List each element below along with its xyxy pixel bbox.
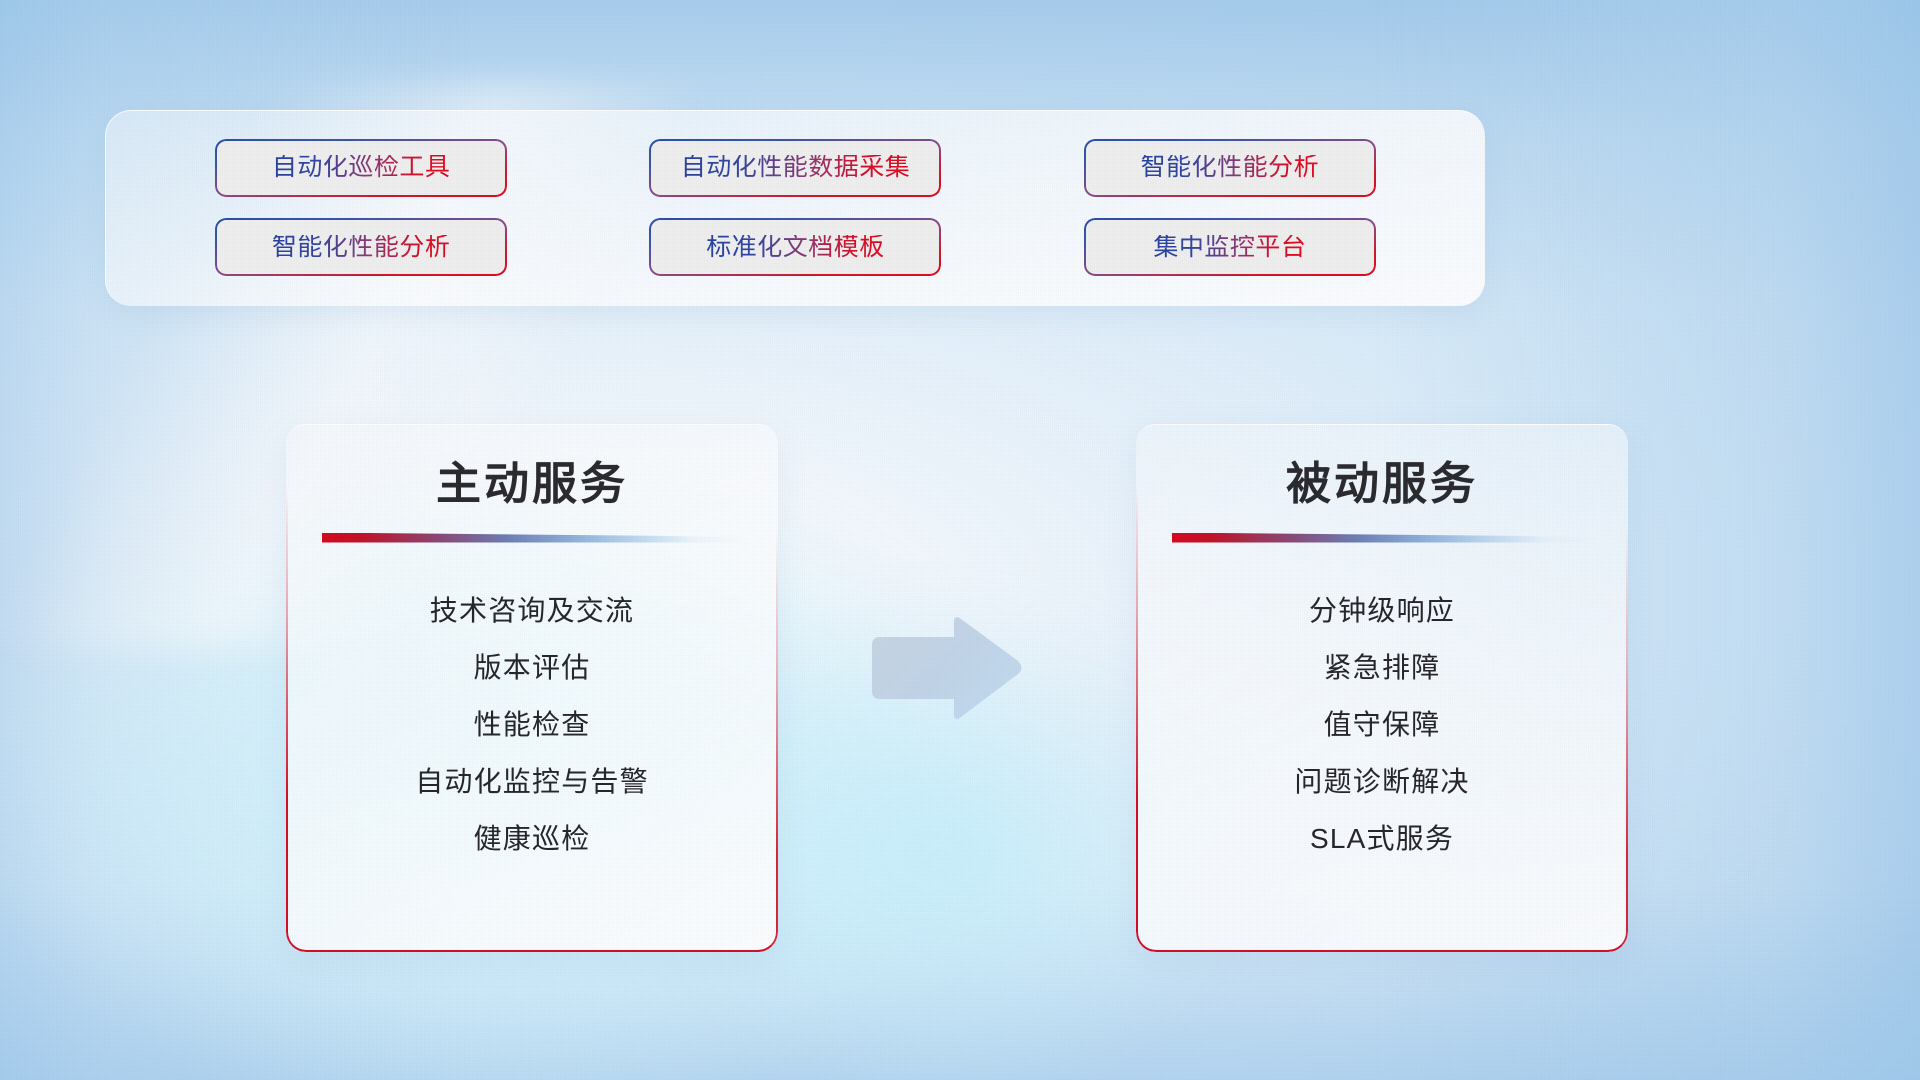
- capability-tag-label: 智能化性能分析: [272, 235, 451, 260]
- panel-item-list: 技术咨询及交流 版本评估 性能检查 自动化监控与告警 健康巡检: [286, 583, 778, 868]
- capability-tag-label: 标准化文档模板: [706, 235, 885, 260]
- capability-tag-label: 自动化性能数据采集: [681, 155, 911, 180]
- list-item: 紧急排障: [1136, 640, 1628, 697]
- capability-tag[interactable]: 自动化性能数据采集: [649, 139, 941, 197]
- panel-title: 被动服务: [1136, 459, 1628, 509]
- panel-item-list: 分钟级响应 紧急排障 值守保障 问题诊断解决 SLA式服务: [1136, 583, 1628, 868]
- capability-tag[interactable]: 自动化巡检工具: [215, 139, 507, 197]
- capability-tags-grid: 自动化巡检工具 自动化性能数据采集 智能化性能分析 智能化性能分析 标准化文档模…: [106, 111, 1485, 306]
- list-item: 问题诊断解决: [1136, 754, 1628, 811]
- list-item: 值守保障: [1136, 697, 1628, 754]
- panel-divider-gradient: [1172, 533, 1592, 543]
- list-item: 版本评估: [286, 640, 778, 697]
- panel-divider-gradient: [322, 533, 742, 543]
- list-item: 健康巡检: [286, 811, 778, 868]
- capability-tag-label: 自动化巡检工具: [272, 155, 451, 180]
- list-item: SLA式服务: [1136, 811, 1628, 868]
- capability-tag[interactable]: 智能化性能分析: [215, 218, 507, 276]
- capability-tags-card: 自动化巡检工具 自动化性能数据采集 智能化性能分析 智能化性能分析 标准化文档模…: [105, 110, 1485, 306]
- service-panel-reactive: 被动服务 分钟级响应 紧急排障 值守保障 问题诊断解决 SLA式服务: [1136, 424, 1628, 952]
- capability-tag[interactable]: 集中监控平台: [1084, 218, 1376, 276]
- panel-divider: [1172, 533, 1592, 543]
- list-item: 技术咨询及交流: [286, 583, 778, 640]
- list-item: 自动化监控与告警: [286, 754, 778, 811]
- panel-divider: [322, 533, 742, 543]
- service-panel-proactive: 主动服务 技术咨询及交流 版本评估 性能检查 自动化监控与告警 健康巡检: [286, 424, 778, 952]
- capability-tag-label: 集中监控平台: [1153, 235, 1306, 260]
- capability-tag[interactable]: 智能化性能分析: [1084, 139, 1376, 197]
- list-item: 性能检查: [286, 697, 778, 754]
- panel-title: 主动服务: [286, 459, 778, 509]
- capability-tag[interactable]: 标准化文档模板: [649, 218, 941, 276]
- arrow-right-icon: [866, 613, 1026, 723]
- capability-tag-label: 智能化性能分析: [1141, 155, 1320, 180]
- list-item: 分钟级响应: [1136, 583, 1628, 640]
